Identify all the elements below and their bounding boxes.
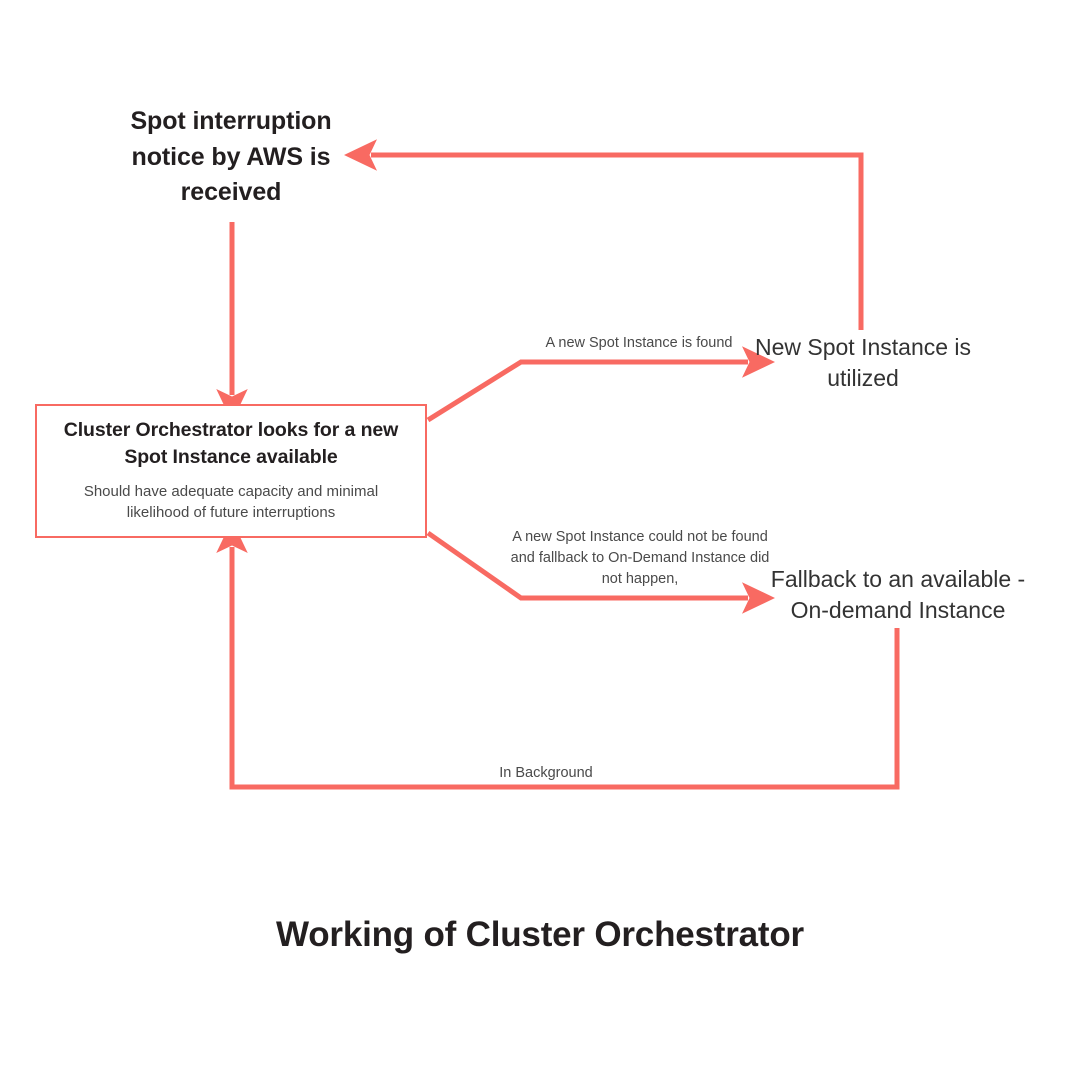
diagram-canvas: Spot interruption notice by AWS is recei… (0, 0, 1080, 1080)
edge-spot-utilized-to-start (371, 155, 861, 330)
edge-label-in-background: In Background (446, 763, 646, 784)
edge-label-spot-not-found: A new Spot Instance could not be found a… (508, 527, 772, 590)
edge-orchestrator-to-spot-utilized (428, 362, 748, 420)
node-spot-interruption-notice-label: Spot interruption notice by AWS is recei… (130, 107, 331, 206)
node-new-spot-instance-utilized: New Spot Instance is utilized (752, 332, 974, 393)
node-cluster-orchestrator-title: Cluster Orchestrator looks for a new Spo… (51, 417, 411, 472)
node-fallback-on-demand-instance: Fallback to an available -On-demand Inst… (770, 564, 1026, 625)
node-new-spot-instance-utilized-label: New Spot Instance is utilized (755, 334, 971, 391)
node-fallback-on-demand-instance-label: Fallback to an available -On-demand Inst… (771, 566, 1025, 623)
node-cluster-orchestrator-subtitle: Should have adequate capacity and minima… (51, 481, 411, 524)
diagram-caption: Working of Cluster Orchestrator (0, 915, 1080, 955)
edge-label-spot-found: A new Spot Instance is found (512, 333, 766, 354)
node-cluster-orchestrator-box: Cluster Orchestrator looks for a new Spo… (35, 404, 427, 538)
node-spot-interruption-notice: Spot interruption notice by AWS is recei… (96, 104, 366, 211)
